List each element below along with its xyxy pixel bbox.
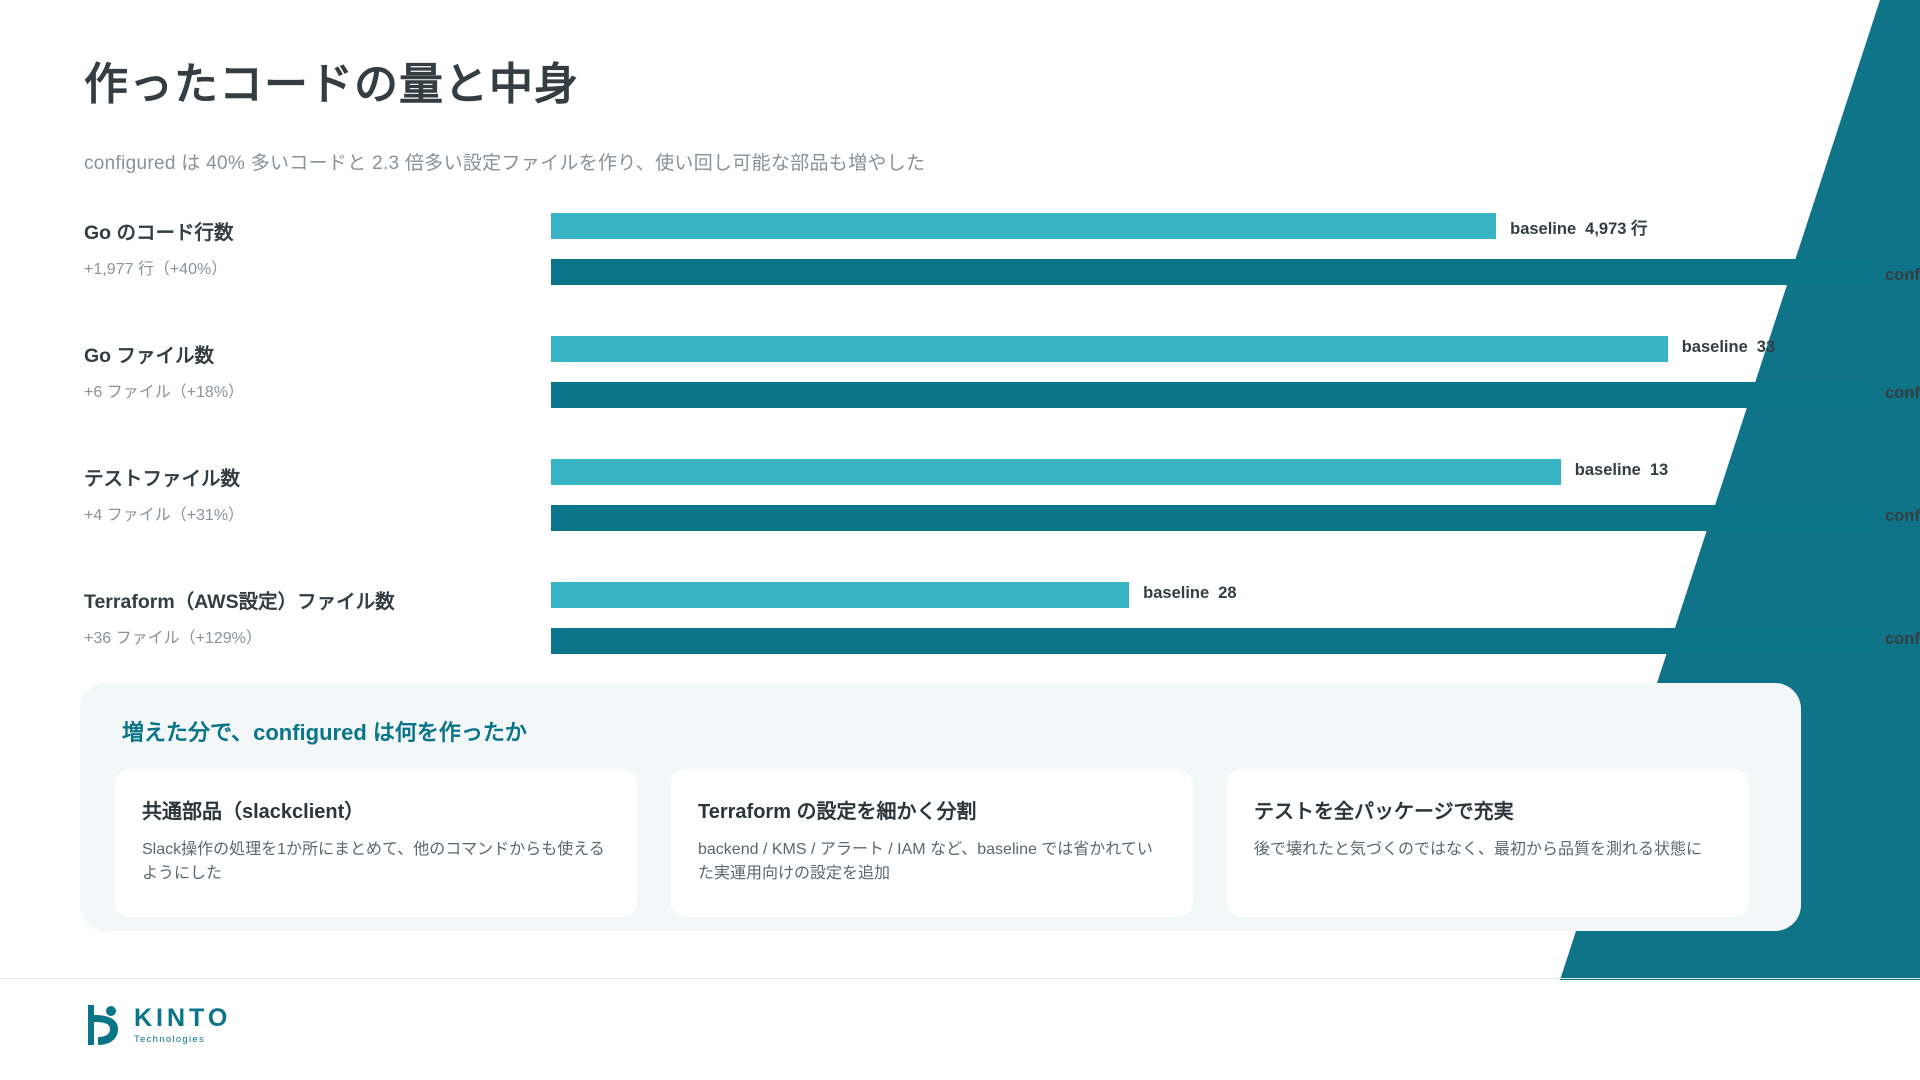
metric-rows: Go のコード行数 +1,977 行（+40%） baseline4,973 行… xyxy=(0,205,1920,697)
bar-area: baseline33 configured39 xyxy=(551,328,1871,451)
baseline-series-label: baseline xyxy=(1575,461,1641,479)
configured-bar xyxy=(551,259,1871,285)
bar-area: baseline13 configured17 xyxy=(551,451,1871,574)
metric-delta: +6 ファイル（+18%） xyxy=(84,378,244,402)
baseline-bar xyxy=(551,336,1668,362)
metric-row: Go ファイル数 +6 ファイル（+18%） baseline33 config… xyxy=(0,328,1920,451)
bar-area: baseline4,973 行 configured6,950 行 xyxy=(551,205,1871,328)
baseline-bar xyxy=(551,459,1561,485)
baseline-value: 13 xyxy=(1650,461,1668,479)
callout-card-title: Terraform の設定を細かく分割 xyxy=(698,795,1165,824)
configured-bar-value: configured17 xyxy=(1885,507,1920,526)
configured-bar-value: configured39 xyxy=(1885,384,1920,403)
callout-title: 増えた分で、configured は何を作ったか xyxy=(122,715,527,747)
configured-series-label: configured xyxy=(1885,266,1920,284)
bar-area: baseline28 configured64 xyxy=(551,574,1871,697)
baseline-bar-line: baseline4,973 行 xyxy=(551,213,1871,239)
baseline-bar-value: baseline33 xyxy=(1682,338,1775,357)
baseline-series-label: baseline xyxy=(1143,584,1209,602)
baseline-bar-line: baseline28 xyxy=(551,582,1871,608)
callout-cards: 共通部品（slackclient） Slack操作の処理を1か所にまとめて、他の… xyxy=(114,769,1764,914)
callout-card-title: テストを全パッケージで充実 xyxy=(1254,795,1721,824)
configured-bar-line: configured64 xyxy=(551,628,1871,654)
configured-bar-line: configured6,950 行 xyxy=(551,259,1871,285)
callout-card: テストを全パッケージで充実 後で壊れたと気づくのではなく、最初から品質を測れる状… xyxy=(1226,769,1749,917)
kinto-wordmark: KINTO xyxy=(134,1006,231,1031)
baseline-bar-line: baseline13 xyxy=(551,459,1871,485)
baseline-bar-line: baseline33 xyxy=(551,336,1871,362)
baseline-bar-value: baseline28 xyxy=(1143,584,1236,603)
metric-row: Terraform（AWS設定）ファイル数 +36 ファイル（+129%） ba… xyxy=(0,574,1920,697)
callout-panel: 増えた分で、configured は何を作ったか 共通部品（slackclien… xyxy=(80,683,1801,931)
callout-card: Terraform の設定を細かく分割 backend / KMS / アラート… xyxy=(670,769,1193,917)
footer-divider xyxy=(0,978,1920,979)
metric-label: Go のコード行数 xyxy=(84,216,234,245)
metric-row: テストファイル数 +4 ファイル（+31%） baseline13 config… xyxy=(0,451,1920,574)
callout-card: 共通部品（slackclient） Slack操作の処理を1か所にまとめて、他の… xyxy=(114,769,637,917)
baseline-series-label: baseline xyxy=(1510,220,1576,238)
configured-series-label: configured xyxy=(1885,507,1920,525)
baseline-value: 4,973 行 xyxy=(1585,220,1647,238)
callout-card-title: 共通部品（slackclient） xyxy=(142,795,609,824)
metric-label: Go ファイル数 xyxy=(84,339,214,368)
configured-series-label: configured xyxy=(1885,384,1920,402)
metric-delta: +4 ファイル（+31%） xyxy=(84,501,244,525)
configured-bar-value: configured64 xyxy=(1885,630,1920,649)
callout-card-body: 後で壊れたと気づくのではなく、最初から品質を測れる状態に xyxy=(1254,838,1721,862)
configured-series-label: configured xyxy=(1885,630,1920,648)
baseline-series-label: baseline xyxy=(1682,338,1748,356)
kinto-logo-icon xyxy=(84,1003,122,1047)
metric-delta: +1,977 行（+40%） xyxy=(84,255,227,279)
slide-root: 作ったコードの量と中身 configured は 40% 多いコードと 2.3 … xyxy=(0,0,1920,1080)
configured-bar xyxy=(551,505,1871,531)
configured-bar xyxy=(551,628,1871,654)
metric-label: Terraform（AWS設定）ファイル数 xyxy=(84,585,395,614)
callout-card-body: backend / KMS / アラート / IAM など、baseline で… xyxy=(698,838,1165,886)
metric-label: テストファイル数 xyxy=(84,462,240,491)
page-subtitle: configured は 40% 多いコードと 2.3 倍多い設定ファイルを作り… xyxy=(84,148,925,175)
metric-delta: +36 ファイル（+129%） xyxy=(84,624,262,648)
baseline-value: 28 xyxy=(1218,584,1236,602)
configured-bar-value: configured6,950 行 xyxy=(1885,261,1920,285)
page-title: 作ったコードの量と中身 xyxy=(84,48,579,112)
baseline-bar xyxy=(551,582,1129,608)
configured-bar-line: configured39 xyxy=(551,382,1871,408)
kinto-subwordmark: Technologies xyxy=(134,1035,231,1045)
kinto-logo: KINTO Technologies xyxy=(84,1003,231,1047)
configured-bar-line: configured17 xyxy=(551,505,1871,531)
baseline-bar xyxy=(551,213,1496,239)
kinto-logo-text: KINTO Technologies xyxy=(134,1006,231,1045)
metric-row: Go のコード行数 +1,977 行（+40%） baseline4,973 行… xyxy=(0,205,1920,328)
baseline-bar-value: baseline4,973 行 xyxy=(1510,215,1647,239)
baseline-bar-value: baseline13 xyxy=(1575,461,1668,480)
callout-card-body: Slack操作の処理を1か所にまとめて、他のコマンドからも使えるようにした xyxy=(142,838,609,886)
baseline-value: 33 xyxy=(1757,338,1775,356)
configured-bar xyxy=(551,382,1871,408)
